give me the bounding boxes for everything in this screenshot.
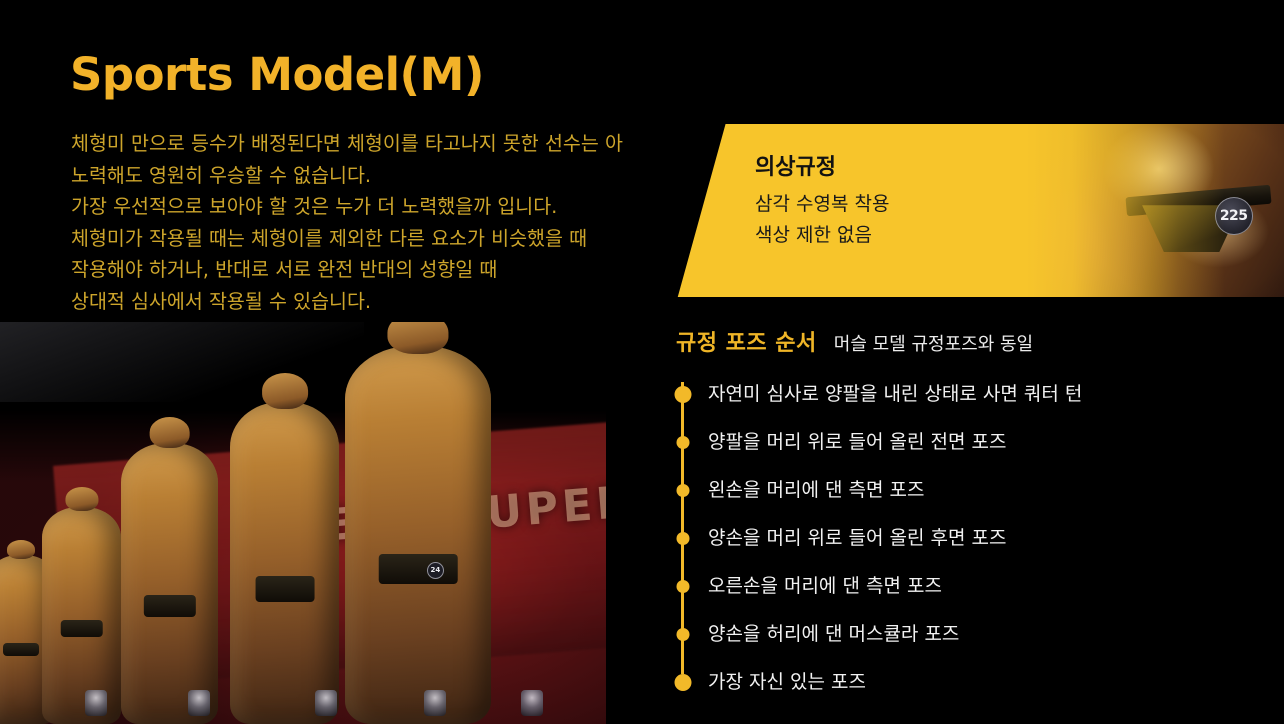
intro-line: 체형미가 작용될 때는 체형이를 제외한 다른 요소가 비슷했을 때 [71,223,771,255]
pose-label: 오른손을 머리에 댄 측면 포즈 [708,575,942,598]
timeline-dot-icon [674,674,691,691]
pose-label: 양손을 머리 위로 들어 올린 후면 포즈 [708,527,1006,550]
intro-line: 체형미 만으로 등수가 배정된다면 체형이를 타고나지 못한 선수는 아 [71,128,771,160]
athlete-figure [42,507,121,724]
athlete-trunks [143,595,195,618]
slide-canvas: Sports Model(M) 체형미 만으로 등수가 배정된다면 체형이를 타… [0,0,1284,724]
costume-text-block: 의상규정 삼각 수영복 착용 색상 제한 없음 [755,156,889,251]
pose-label: 자연미 심사로 양팔을 내린 상태로 사면 쿼터 턴 [708,383,1082,406]
pose-header: 규정 포즈 순서 머슬 모델 규정포즈와 동일 [676,325,1033,357]
intro-line: 가장 우선적으로 보아야 할 것은 누가 더 노력했을까 입니다. [71,191,771,223]
timeline-dot-icon [676,628,689,641]
athlete-trunks [255,576,314,602]
stage-spotlight [424,690,446,716]
pose-section-title: 규정 포즈 순서 [676,325,817,357]
athlete-head [65,487,98,511]
pose-timeline: 자연미 심사로 양팔을 내린 상태로 사면 쿼터 턴 양팔을 머리 위로 들어 … [660,370,1284,710]
pose-label: 양손을 허리에 댄 머스큘라 포즈 [708,623,959,646]
costume-photo: 225 [954,124,1284,297]
pose-label: 양팔을 머리 위로 들어 올린 전면 포즈 [708,431,1006,454]
stage-spotlight [85,690,107,716]
pose-label: 가장 자신 있는 포즈 [708,671,866,694]
stage-photo: PEAK SUPER SERIES 24 [0,322,606,724]
pose-order-section: 규정 포즈 순서 머슬 모델 규정포즈와 동일 자연미 심사로 양팔을 내린 상… [660,322,1284,724]
timeline-dot-icon [676,532,689,545]
timeline-dot-icon [676,436,689,449]
intro-paragraph: 체형미 만으로 등수가 배정된다면 체형이를 타고나지 못한 선수는 아 노력해… [71,128,771,317]
page-title: Sports Model(M) [70,52,484,97]
athlete-figure: 24 [345,346,490,724]
timeline-dot-icon [674,386,691,403]
ceiling-truss [0,322,364,402]
athlete-figure [230,402,339,724]
athlete-bib-number: 24 [427,562,444,579]
timeline-dot-icon [676,580,689,593]
pose-label: 왼손을 머리에 댄 측면 포즈 [708,479,924,502]
athlete-trunks [379,554,458,584]
stage-spotlight [188,690,210,716]
photo-fade-overlay [954,124,1284,297]
athlete-head [388,322,449,354]
athlete-trunks [61,620,104,637]
athlete-head [262,373,308,408]
timeline-dot-icon [676,484,689,497]
athlete-figure [121,443,218,724]
costume-rule: 색상 제한 없음 [755,220,889,251]
stage-spotlight [521,690,543,716]
athlete-head [149,417,190,448]
costume-rule: 삼각 수영복 착용 [755,189,889,220]
athlete-head [7,540,35,559]
costume-heading: 의상규정 [755,156,889,180]
intro-line: 노력해도 영원히 우승할 수 없습니다. [71,160,771,192]
athlete-trunks [3,643,39,657]
costume-regulation-panel: 225 의상규정 삼각 수영복 착용 색상 제한 없음 [671,124,1284,297]
intro-line: 상대적 심사에서 작용될 수 있습니다. [71,286,771,318]
pose-section-subtitle: 머슬 모델 규정포즈와 동일 [834,330,1033,356]
stage-spotlight [315,690,337,716]
intro-line: 작용해야 하거나, 반대로 서로 완전 반대의 성향일 때 [71,254,771,286]
